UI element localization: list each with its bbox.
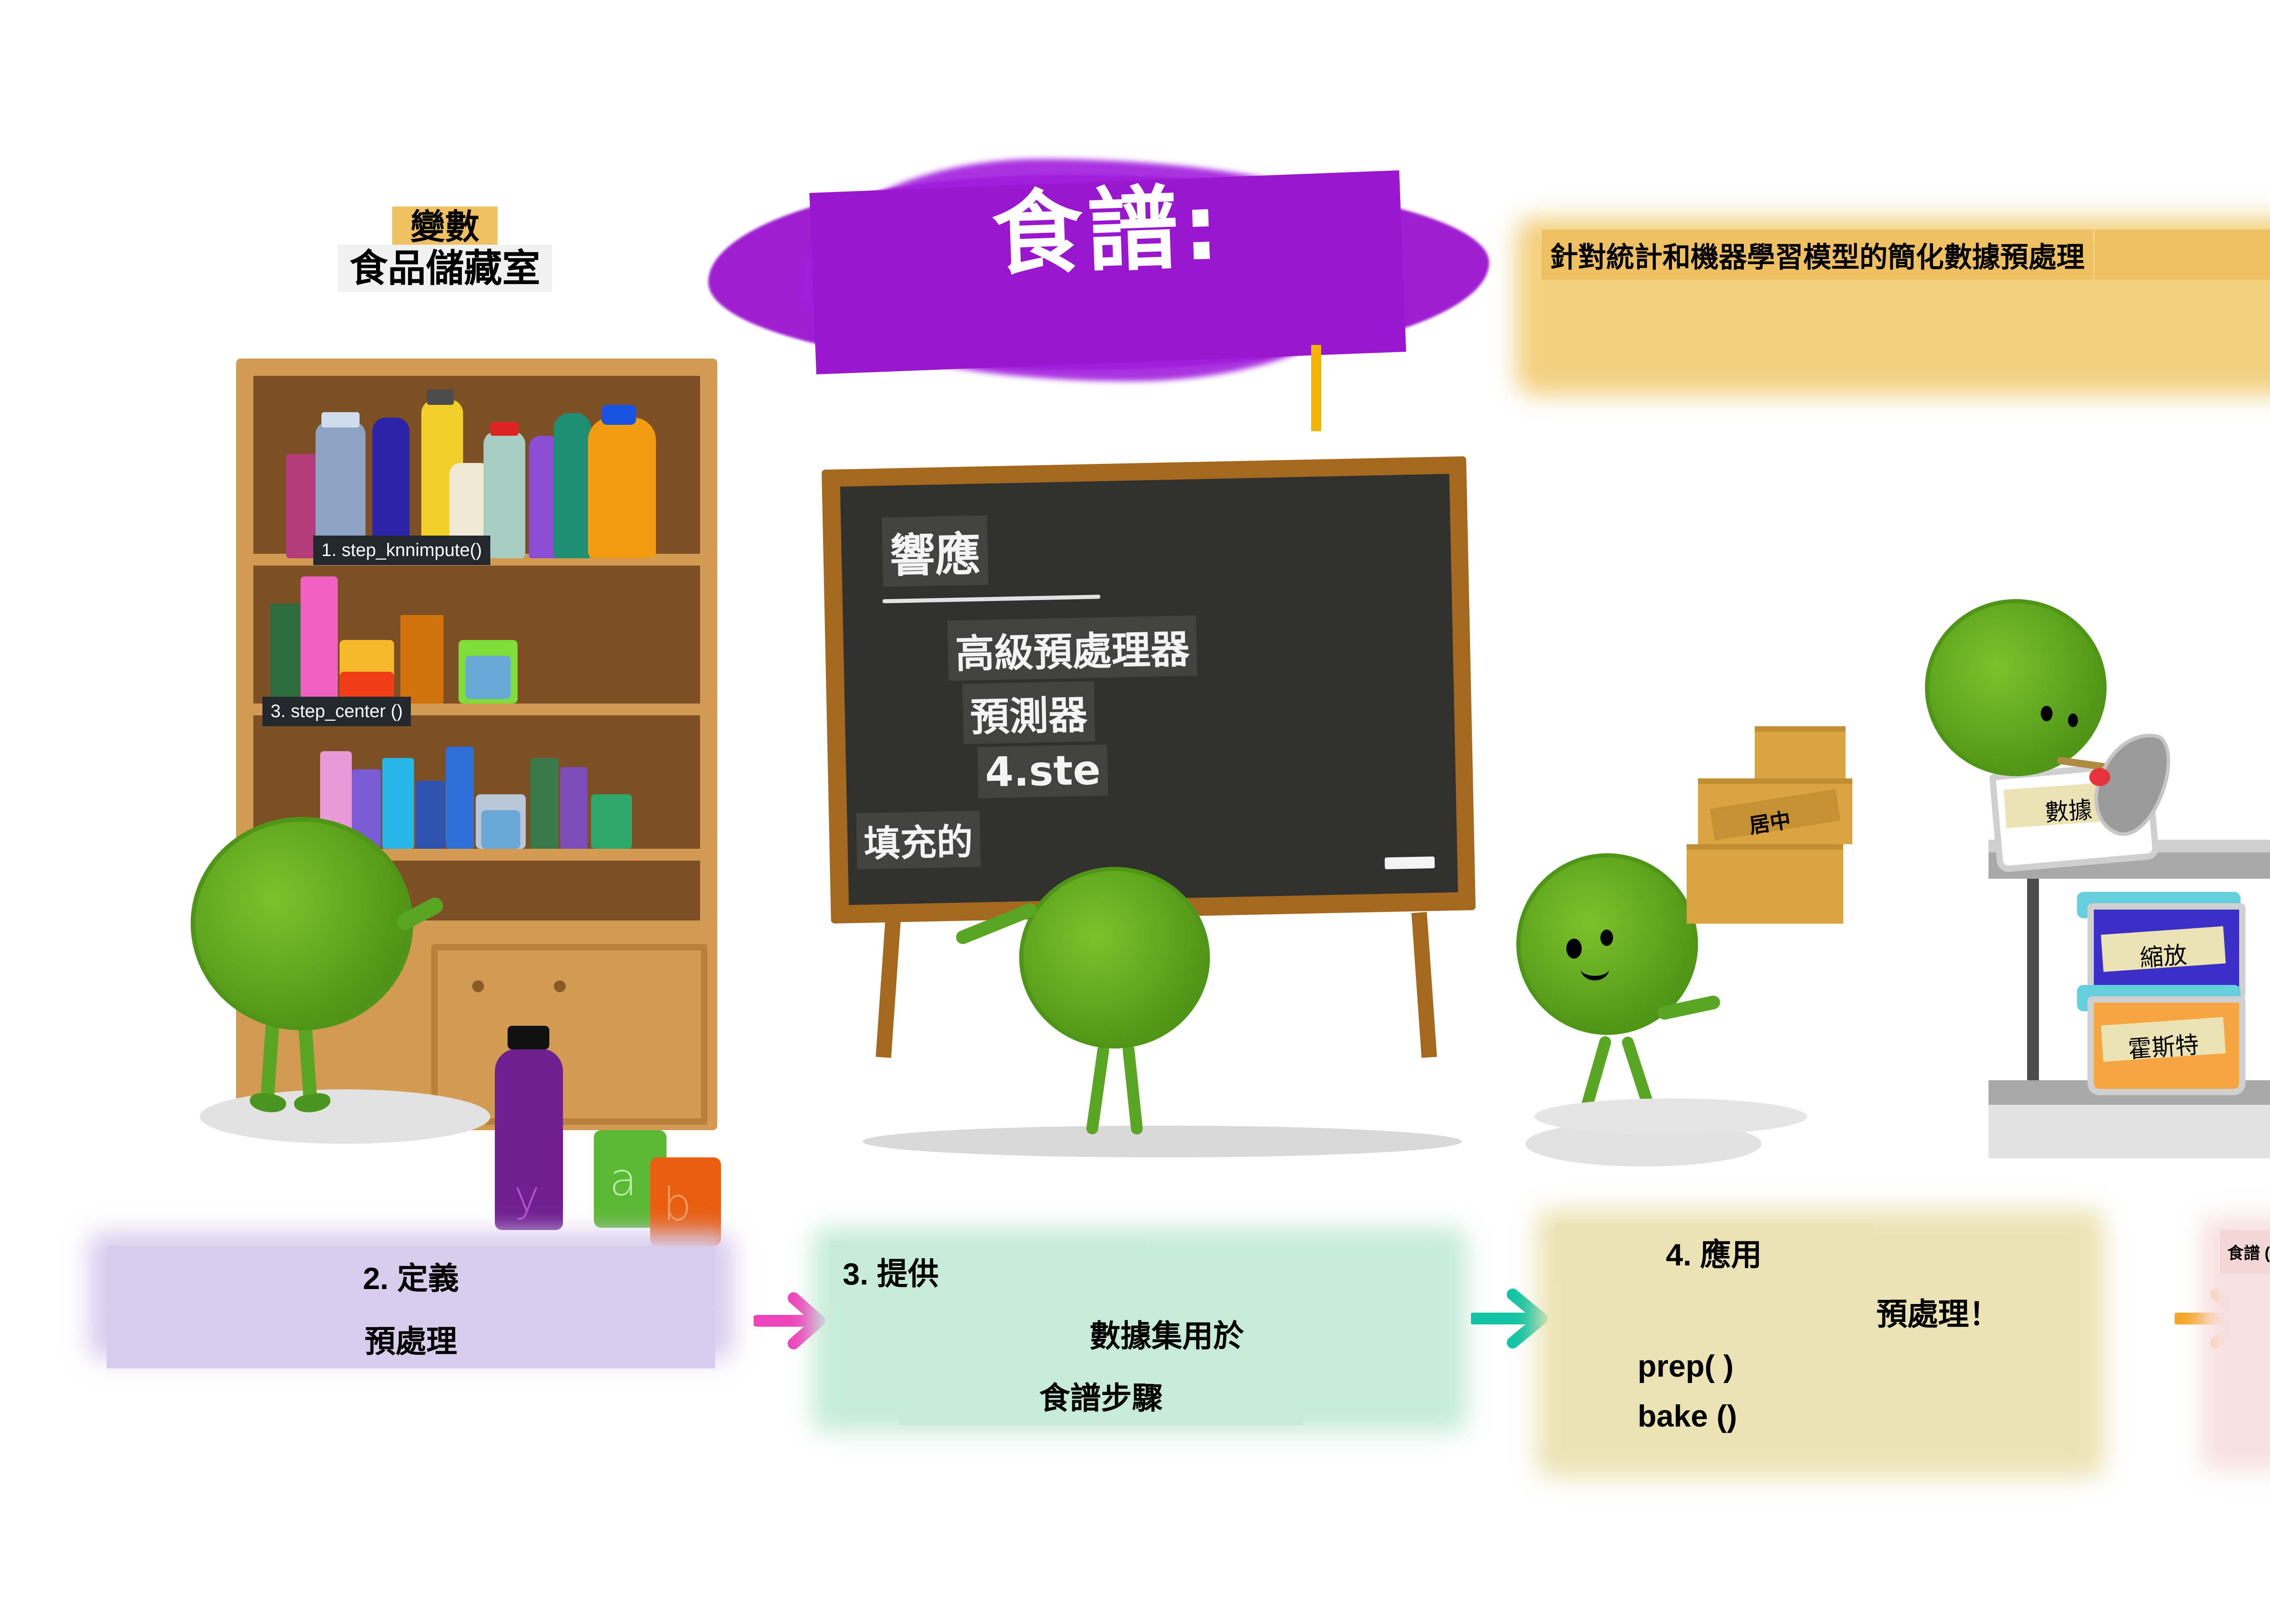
mixer-character-hand	[2089, 768, 2110, 786]
pantry-title-block: 變數 食品儲藏室	[272, 207, 617, 292]
bb-character-leg-right	[1122, 1043, 1144, 1135]
box-tape-label: 居中	[1747, 803, 1792, 840]
blackboard-line-2: 預測器	[962, 681, 1096, 744]
boxes-character-smile	[1581, 958, 1609, 980]
recipe-title-banner: 食譜:	[708, 150, 1489, 404]
eraser[interactable]	[1385, 856, 1435, 869]
boxes-floor-shadow	[1535, 1098, 1807, 1135]
step-row-preprocess: 預處理	[107, 1309, 715, 1368]
step-card-define-preprocessing: 2. 定義 預處理	[107, 1246, 715, 1368]
pantry-box-purple3	[560, 767, 587, 849]
bottle-y-cap	[508, 1026, 549, 1049]
step-row-bake-script: bake()	[2220, 1339, 2270, 1413]
blackboard-leg-right	[1411, 912, 1437, 1058]
pantry-can-green	[591, 794, 632, 849]
step-tag-center[interactable]: 3. step_center ()	[262, 697, 411, 726]
bb-character-body	[1019, 867, 1210, 1048]
blackboard-character	[1008, 862, 1244, 1171]
blackboard-line-4: 填充的	[856, 811, 981, 870]
blackboard-line-3: 4.ste	[977, 744, 1109, 798]
blackboard-line-1: 高級預處理器	[947, 615, 1198, 681]
mixer-character-body	[1925, 599, 2107, 776]
blackboard-leg-left	[876, 912, 901, 1058]
step-card-recipe-steps-bake: 食譜 (y~a + b+ ... , data = pantry) 步驟 (st…	[2220, 1230, 2270, 1413]
step-row-bake-fn: bake ()	[1628, 1392, 1829, 1440]
step-tag-knnimpute[interactable]: 1. step_knnimpute()	[313, 536, 490, 565]
box-bottom	[1687, 844, 1843, 924]
pantry-cap-lightblue	[321, 412, 360, 428]
pantry-box-green2	[530, 758, 558, 849]
pantry-cap-dark	[427, 389, 454, 405]
pantry-character	[182, 812, 508, 1203]
headline-block: 針對統計和機器學習模型的簡化數據預處理 待辦事項：	[1535, 227, 2270, 280]
headline-line-2: 待辦事項：	[2095, 230, 2270, 280]
bottle-b-label: b	[663, 1178, 691, 1231]
station-floor	[1989, 1105, 2270, 1158]
step-row-apply: 4. 應用	[1555, 1223, 1873, 1281]
pantry-book-darkgreen	[270, 604, 302, 704]
character-body	[191, 817, 413, 1030]
pantry-bottle-green	[554, 413, 591, 558]
boxes-character-eye-left	[1566, 939, 1582, 959]
blackboard-heading: 響應	[882, 515, 988, 587]
blackboard: 響應 高級預處理器 預測器 4.ste 填充的	[822, 456, 1476, 924]
mixer-character	[1920, 590, 2156, 871]
blackboard-underline	[883, 595, 1100, 603]
boxes-character-eye-right	[1600, 930, 1613, 946]
step-row-prep-fn: prep( )	[1628, 1342, 2047, 1390]
box-top	[1755, 726, 1846, 778]
pantry-can-blue-label	[465, 656, 511, 699]
step-card-apply-preprocessing: 4. 應用 預處理！ prep( ) bake ()	[1555, 1223, 2082, 1440]
step-row-recipe-formula: 食譜 (y~a + b+ ... , data = pantry)	[2220, 1230, 2270, 1274]
box-middle: 居中	[1698, 778, 1852, 844]
pantry-title-label: 食品儲藏室	[338, 245, 552, 292]
cardboard-box-stack: 居中	[1698, 726, 1889, 1044]
bb-character-leg-left	[1086, 1043, 1110, 1135]
step-row-define: 2. 定義	[107, 1246, 715, 1305]
step-card-provide-dataset: 3. 提供 數據集用於 食譜步驟	[831, 1241, 1448, 1425]
step-row-recipe-steps: 食譜步驟	[899, 1366, 1303, 1425]
character-shadow	[200, 1089, 490, 1144]
mixer-character-eye-right	[2068, 714, 2078, 727]
pantry-bottle-orange	[588, 418, 656, 558]
blackboard-slate: 響應 高級預處理器 預測器 4.ste 填充的	[840, 474, 1458, 905]
pantry-variables-label: 變數	[392, 207, 498, 248]
pantry-cap-blue	[602, 405, 636, 425]
door-knob-right[interactable]	[554, 980, 566, 992]
bottle-y-label: y	[514, 1171, 540, 1222]
pantry-box-pink	[301, 576, 338, 704]
floor-bottles-group: y a b	[463, 1021, 717, 1235]
headline-line-1: 針對統計和機器學習模型的簡化數據預處理	[1542, 230, 2093, 280]
step-row-preprocess-excl: 預處理！	[1628, 1283, 2013, 1340]
step-row-dataset-for: 數據集用於	[899, 1304, 1435, 1363]
step-row-provide: 3. 提供	[831, 1241, 1145, 1301]
recipe-pole	[1311, 345, 1321, 431]
mixer-character-eye-left	[2041, 706, 2053, 721]
pantry-box-orange	[400, 615, 444, 704]
bottle-a-label: a	[609, 1153, 637, 1206]
pantry-cap-red	[490, 422, 518, 436]
